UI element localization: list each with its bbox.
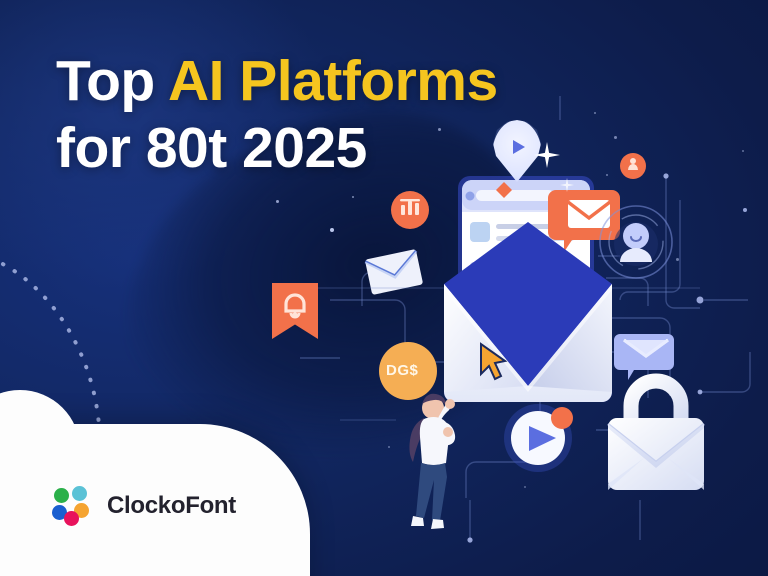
open-envelope [444,222,612,402]
title-line-1: Top AI Platforms [56,49,498,113]
lock-envelope [608,381,704,490]
title-accent: AI Platforms [168,49,498,113]
title-line-2: for 80t 2025 [56,116,367,180]
brand-lockup[interactable]: ClockoFont [52,486,236,526]
bookmark-ribbon [272,283,318,339]
page-title: Top AI Platforms for 80t 2025 [56,48,616,181]
mail-speech-bubble [548,190,620,252]
envelope-icon [568,200,610,228]
mouse-cursor [481,344,505,379]
document-window [458,176,594,388]
analytics-circle [391,191,429,229]
clockofont-logo-icon [52,486,94,526]
play-circle [504,404,573,472]
small-orange-circle [620,153,646,179]
brand-name: ClockoFont [107,492,236,520]
currency-circle-label: DG$ [386,362,418,379]
chat-envelope [614,334,674,380]
bell-icon [272,283,318,325]
avatar-orbit [600,206,672,278]
small-envelope [365,249,423,295]
poster-canvas: DG$ Top AI Platforms for 80t 2025 [0,0,768,576]
standing-woman-illustration [409,394,455,529]
